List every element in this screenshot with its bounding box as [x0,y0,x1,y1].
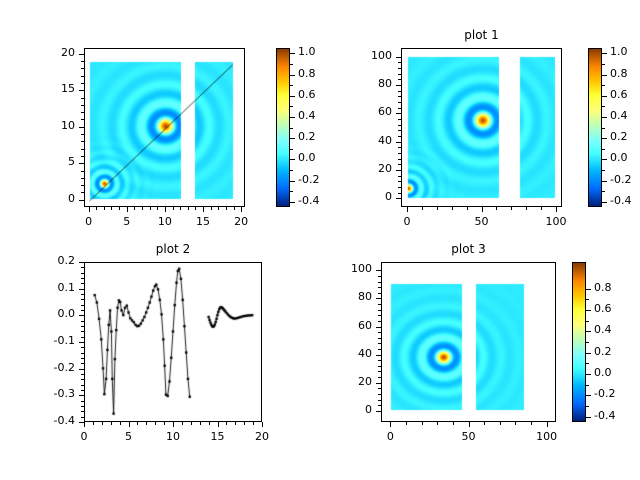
yticklabel-panel3: 80 [320,290,372,303]
cbtick-minor-panel1 [602,64,605,65]
ytick-minor-panel3 [378,287,381,288]
ytick-minor-panel2 [81,310,84,311]
xtick-minor-panel0 [188,207,189,210]
ytick-major-panel1 [396,113,401,114]
xtick-minor-panel0 [195,207,196,210]
ytick-minor-panel1 [398,125,401,126]
cbticklabel-panel3: -0.4 [594,409,638,422]
plot-area-panel1 [402,49,561,206]
ytick-minor-panel3 [378,343,381,344]
xtick-major-panel1 [407,207,408,212]
cbtick-panel0 [290,138,295,139]
cbtick-panel3 [586,331,591,332]
xtick-minor-panel2 [209,422,210,425]
ytick-major-panel2 [79,422,84,423]
xtick-minor-panel0 [119,207,120,210]
yticklabel-panel0: 10 [23,119,75,132]
xtick-minor-panel2 [244,422,245,425]
plot-frame-panel3 [381,262,556,422]
ytick-major-panel2 [79,395,84,396]
cbticklabel-panel0: -0.2 [298,173,342,186]
ytick-minor-panel3 [378,349,381,350]
cbticklabel-panel1: 1.0 [610,45,640,58]
plot-frame-panel2 [84,262,262,422]
xtick-minor-panel2 [120,422,121,425]
ytick-minor-panel3 [378,276,381,277]
yticklabel-panel1: 0 [340,190,392,203]
panel-title-panel1: plot 1 [401,28,562,42]
ytick-minor-panel2 [81,299,84,300]
ytick-minor-panel3 [378,388,381,389]
xtick-minor-panel1 [496,207,497,210]
cbtick-panel1 [602,138,607,139]
yticklabel-panel3: 20 [320,375,372,388]
yticklabel-panel3: 40 [320,347,372,360]
cbtick-minor-panel3 [586,363,589,364]
xtick-minor-panel0 [104,207,105,210]
ytick-major-panel1 [396,170,401,171]
cbtick-minor-panel1 [602,128,605,129]
plot-area-panel3 [382,263,555,421]
ytick-minor-panel0 [81,68,84,69]
yticklabel-panel2: -0.1 [23,334,75,347]
xtick-minor-panel0 [111,207,112,210]
xtick-major-panel0 [241,207,242,212]
ytick-minor-panel0 [81,112,84,113]
ytick-minor-panel1 [398,96,401,97]
ytick-minor-panel2 [81,267,84,268]
cbtick-minor-panel3 [586,406,589,407]
cbtick-minor-panel3 [586,385,589,386]
yticklabel-panel2: -0.4 [23,414,75,427]
ytick-minor-panel0 [81,61,84,62]
ytick-major-panel2 [79,315,84,316]
cbticklabel-panel3: 0.6 [594,302,638,315]
ytick-major-panel0 [79,127,84,128]
xtick-minor-panel0 [211,207,212,210]
ytick-minor-panel1 [398,147,401,148]
ytick-minor-panel2 [81,385,84,386]
cbticklabel-panel0: -0.4 [298,194,342,207]
ytick-minor-panel2 [81,326,84,327]
cbtick-panel3 [586,374,591,375]
xtick-minor-panel3 [515,422,516,425]
ytick-major-panel1 [396,142,401,143]
xtick-minor-panel2 [226,422,227,425]
cbticklabel-panel0: 0.6 [298,88,342,101]
xtick-major-panel0 [127,207,128,212]
ytick-minor-panel1 [398,164,401,165]
ytick-minor-panel0 [81,76,84,77]
cbtick-panel0 [290,96,295,97]
ytick-minor-panel0 [81,141,84,142]
ytick-minor-panel3 [378,377,381,378]
xtick-minor-panel1 [422,207,423,210]
plot-area-panel0 [85,49,244,206]
yticklabel-panel3: 60 [320,319,372,332]
xtick-minor-panel0 [218,207,219,210]
yticklabel-panel1: 40 [340,134,392,147]
ytick-minor-panel1 [398,119,401,120]
xtick-minor-panel2 [155,422,156,425]
ytick-minor-panel3 [378,332,381,333]
xtick-minor-panel2 [164,422,165,425]
ytick-minor-panel0 [81,185,84,186]
xtick-major-panel1 [556,207,557,212]
ytick-major-panel0 [79,163,84,164]
xtick-minor-panel1 [541,207,542,210]
colorbar-panel1 [588,48,602,207]
yticklabel-panel0: 15 [23,82,75,95]
ytick-minor-panel2 [81,358,84,359]
ytick-minor-panel0 [81,178,84,179]
xtick-minor-panel2 [93,422,94,425]
plot-frame-panel1 [401,48,562,207]
cbtick-panel0 [290,117,295,118]
ytick-minor-panel2 [81,379,84,380]
cbtick-panel1 [602,96,607,97]
cbticklabel-panel3: 0.4 [594,323,638,336]
ytick-minor-panel1 [398,130,401,131]
ytick-minor-panel1 [398,102,401,103]
ytick-minor-panel0 [81,156,84,157]
cbticklabel-panel1: 0.8 [610,67,640,80]
ytick-major-panel2 [79,262,84,263]
ytick-minor-panel1 [398,176,401,177]
xtick-major-panel2 [129,422,130,427]
xtick-minor-panel2 [146,422,147,425]
ytick-minor-panel2 [81,363,84,364]
yticklabel-panel2: 0.1 [23,281,75,294]
ytick-minor-panel1 [398,136,401,137]
ytick-minor-panel2 [81,347,84,348]
ytick-major-panel2 [79,289,84,290]
xtick-minor-panel0 [150,207,151,210]
xtick-major-panel3 [469,422,470,427]
ytick-minor-panel2 [81,331,84,332]
yticklabel-panel0: 0 [23,192,75,205]
xticklabel-panel2: 15 [193,430,243,443]
yticklabel-panel3: 0 [320,403,372,416]
ytick-minor-panel0 [81,149,84,150]
cbtick-panel0 [290,159,295,160]
cbtick-panel1 [602,117,607,118]
ytick-minor-panel0 [81,134,84,135]
ytick-minor-panel2 [81,417,84,418]
cbtick-minor-panel3 [586,321,589,322]
ytick-minor-panel3 [378,400,381,401]
cbtick-minor-panel1 [602,170,605,171]
xtick-minor-panel2 [191,422,192,425]
ytick-major-panel3 [376,298,381,299]
plot-frame-panel0 [84,48,245,207]
xtick-minor-panel0 [96,207,97,210]
cbtick-minor-panel0 [290,170,293,171]
ytick-minor-panel1 [398,91,401,92]
ytick-minor-panel3 [378,321,381,322]
ytick-minor-panel1 [398,193,401,194]
cbticklabel-panel1: -0.4 [610,194,640,207]
yticklabel-panel0: 20 [23,46,75,59]
cbticklabel-panel3: -0.2 [594,387,638,400]
xtick-minor-panel3 [500,422,501,425]
ytick-major-panel0 [79,54,84,55]
xticklabel-panel2: 5 [104,430,154,443]
ytick-major-panel3 [376,411,381,412]
ytick-minor-panel3 [378,360,381,361]
xticklabel-panel1: 100 [531,215,581,228]
ytick-minor-panel0 [81,83,84,84]
colorbar-panel3 [572,262,586,422]
xtick-minor-panel1 [452,207,453,210]
ytick-major-panel1 [396,198,401,199]
xtick-minor-panel0 [173,207,174,210]
yticklabel-panel2: 0.0 [23,307,75,320]
yticklabel-panel2: -0.3 [23,387,75,400]
cbtick-minor-panel0 [290,106,293,107]
ytick-minor-panel1 [398,187,401,188]
xtick-minor-panel0 [226,207,227,210]
yticklabel-panel1: 20 [340,162,392,175]
xtick-minor-panel0 [134,207,135,210]
ytick-minor-panel0 [81,171,84,172]
ytick-minor-panel3 [378,394,381,395]
xticklabel-panel3: 100 [522,430,572,443]
cbticklabel-panel0: 0.4 [298,109,342,122]
xtick-minor-panel2 [182,422,183,425]
figure-canvas: 0510152005101520-0.4-0.20.00.20.40.60.81… [0,0,640,480]
cbtick-panel0 [290,202,295,203]
cbtick-minor-panel0 [290,191,293,192]
xtick-major-panel0 [203,207,204,212]
xtick-minor-panel3 [484,422,485,425]
xtick-major-panel3 [547,422,548,427]
xtick-minor-panel2 [102,422,103,425]
ytick-minor-panel3 [378,310,381,311]
ytick-major-panel2 [79,369,84,370]
xticklabel-panel1: 50 [457,215,507,228]
ytick-minor-panel2 [81,337,84,338]
cbticklabel-panel3: 0.0 [594,366,638,379]
ytick-minor-panel2 [81,305,84,306]
xtick-minor-panel2 [253,422,254,425]
cbtick-panel3 [586,395,591,396]
ytick-minor-panel2 [81,411,84,412]
xticklabel-panel2: 20 [237,430,287,443]
cbtick-minor-panel3 [586,299,589,300]
ytick-major-panel3 [376,355,381,356]
ytick-minor-panel2 [81,278,84,279]
yticklabel-panel3: 100 [320,262,372,275]
panel-title-panel2: plot 2 [84,242,262,256]
xtick-minor-panel3 [422,422,423,425]
xtick-minor-panel2 [111,422,112,425]
cbticklabel-panel3: 0.8 [594,281,638,294]
colorbar-panel0 [276,48,290,207]
ytick-minor-panel0 [81,98,84,99]
cbtick-panel1 [602,181,607,182]
xtick-minor-panel2 [200,422,201,425]
yticklabel-panel1: 100 [340,49,392,62]
xticklabel-panel0: 20 [216,215,266,228]
yticklabel-panel2: 0.2 [23,254,75,267]
cbtick-minor-panel0 [290,85,293,86]
xtick-minor-panel3 [453,422,454,425]
xtick-minor-panel0 [142,207,143,210]
ytick-minor-panel0 [81,192,84,193]
ytick-minor-panel2 [81,390,84,391]
xtick-major-panel2 [218,422,219,427]
cbtick-panel3 [586,417,591,418]
cbticklabel-panel1: -0.2 [610,173,640,186]
panel-title-panel3: plot 3 [381,242,556,256]
xtick-major-panel3 [390,422,391,427]
cbtick-panel3 [586,310,591,311]
xtick-minor-panel0 [157,207,158,210]
xtick-minor-panel1 [467,207,468,210]
ytick-minor-panel3 [378,304,381,305]
ytick-minor-panel0 [81,119,84,120]
cbtick-minor-panel3 [586,342,589,343]
ytick-minor-panel1 [398,74,401,75]
cbticklabel-panel3: 0.2 [594,345,638,358]
cbticklabel-panel1: 0.0 [610,151,640,164]
cbtick-panel1 [602,53,607,54]
ytick-minor-panel2 [81,353,84,354]
ytick-minor-panel2 [81,374,84,375]
xtick-major-panel2 [173,422,174,427]
xtick-minor-panel3 [437,422,438,425]
cbtick-panel0 [290,181,295,182]
cbtick-panel1 [602,159,607,160]
yticklabel-panel1: 80 [340,77,392,90]
xtick-minor-panel3 [406,422,407,425]
ytick-minor-panel2 [81,406,84,407]
cbtick-panel0 [290,75,295,76]
ytick-minor-panel2 [81,283,84,284]
ytick-minor-panel1 [398,153,401,154]
ytick-major-panel3 [376,327,381,328]
xtick-major-panel0 [89,207,90,212]
xtick-minor-panel1 [511,207,512,210]
ytick-minor-panel3 [378,366,381,367]
ytick-major-panel3 [376,383,381,384]
xtick-minor-panel3 [531,422,532,425]
yticklabel-panel0: 5 [23,155,75,168]
cbtick-minor-panel1 [602,85,605,86]
ytick-major-panel1 [396,57,401,58]
cbticklabel-panel0: 1.0 [298,45,342,58]
ytick-minor-panel3 [378,405,381,406]
ytick-minor-panel3 [378,282,381,283]
ytick-minor-panel1 [398,68,401,69]
cbtick-panel1 [602,75,607,76]
xticklabel-panel3: 50 [444,430,494,443]
xtick-minor-panel0 [180,207,181,210]
xtick-major-panel2 [84,422,85,427]
cbticklabel-panel0: 0.2 [298,130,342,143]
ytick-minor-panel2 [81,401,84,402]
ytick-major-panel0 [79,90,84,91]
yticklabel-panel2: -0.2 [23,361,75,374]
xticklabel-panel2: 0 [59,430,109,443]
cbtick-minor-panel0 [290,149,293,150]
xtick-minor-panel1 [437,207,438,210]
xtick-minor-panel2 [137,422,138,425]
yticklabel-panel1: 60 [340,105,392,118]
xtick-minor-panel1 [526,207,527,210]
xtick-major-panel0 [165,207,166,212]
cbtick-minor-panel1 [602,149,605,150]
xticklabel-panel1: 0 [382,215,432,228]
ytick-minor-panel1 [398,159,401,160]
ytick-minor-panel3 [378,371,381,372]
ytick-minor-panel1 [398,181,401,182]
ytick-major-panel1 [396,85,401,86]
cbtick-minor-panel0 [290,128,293,129]
ytick-minor-panel2 [81,321,84,322]
cbtick-panel1 [602,202,607,203]
ytick-minor-panel2 [81,294,84,295]
cbticklabel-panel0: 0.8 [298,67,342,80]
cbtick-panel3 [586,289,591,290]
ytick-minor-panel1 [398,79,401,80]
cbticklabel-panel0: 0.0 [298,151,342,164]
xtick-major-panel1 [482,207,483,212]
ytick-major-panel3 [376,270,381,271]
cbtick-panel0 [290,53,295,54]
xtick-major-panel2 [262,422,263,427]
cbtick-panel3 [586,353,591,354]
ytick-minor-panel3 [378,315,381,316]
cbticklabel-panel1: 0.2 [610,130,640,143]
ytick-major-panel0 [79,200,84,201]
ytick-minor-panel1 [398,62,401,63]
xticklabel-panel3: 0 [365,430,415,443]
cbtick-minor-panel1 [602,106,605,107]
cbticklabel-panel1: 0.6 [610,88,640,101]
ytick-minor-panel1 [398,108,401,109]
ytick-major-panel2 [79,342,84,343]
cbtick-minor-panel0 [290,64,293,65]
ytick-minor-panel3 [378,338,381,339]
ytick-minor-panel2 [81,273,84,274]
ytick-minor-panel3 [378,293,381,294]
xticklabel-panel2: 10 [148,430,198,443]
cbticklabel-panel1: 0.4 [610,109,640,122]
ytick-minor-panel0 [81,105,84,106]
cbtick-minor-panel1 [602,191,605,192]
xtick-minor-panel0 [234,207,235,210]
xtick-minor-panel2 [235,422,236,425]
plot-area-panel2 [85,263,261,421]
